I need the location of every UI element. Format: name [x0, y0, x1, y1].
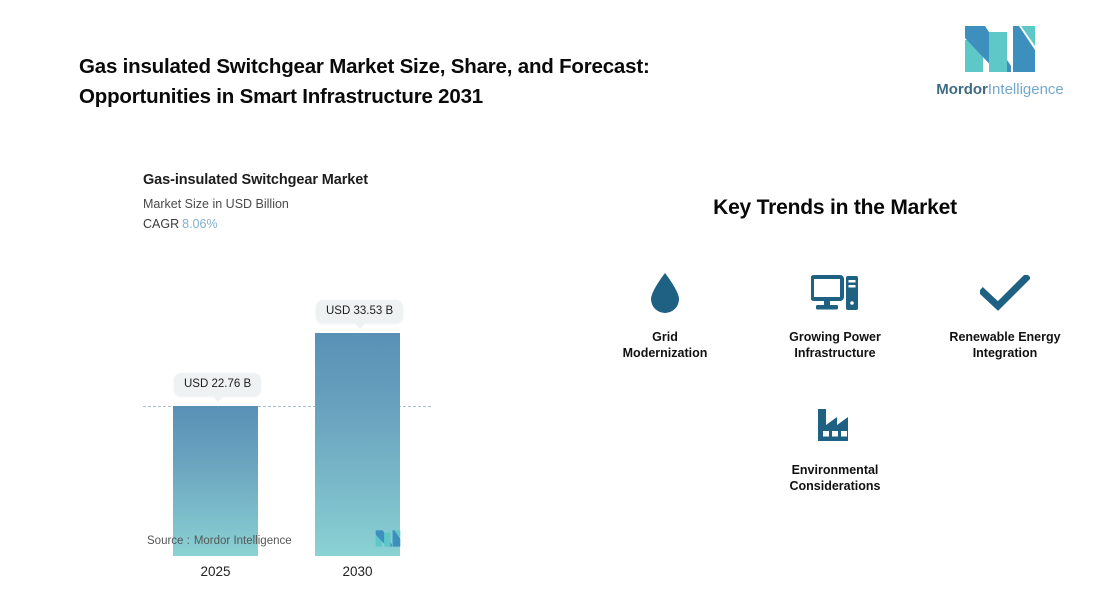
trend-label: Environmental Considerations	[776, 462, 894, 494]
bar-label-2030: USD 33.53 B	[316, 300, 403, 323]
bar-label-2025: USD 22.76 B	[174, 373, 261, 396]
chart-source: Source :Mordor Intelligence	[147, 535, 292, 547]
x-tick-2025: 2025	[173, 564, 258, 579]
key-trends-panel: Key Trends in the Market Grid Modernizat…	[600, 196, 1070, 494]
chart-subtitle: Market Size in USD Billion	[143, 197, 443, 211]
trend-item-renewable-energy-integration[interactable]: Renewable Energy Integration	[946, 270, 1064, 361]
trend-label: Grid Modernization	[606, 329, 724, 361]
brand-wordmark-bold: Mordor	[936, 81, 988, 98]
brand-logo: MordorIntelligence	[936, 26, 1064, 99]
chart-title: Gas-insulated Switchgear Market	[143, 172, 443, 188]
brand-wordmark: MordorIntelligence	[936, 81, 1064, 98]
trend-row-secondary: Environmental Considerations	[600, 403, 1070, 494]
checkmark-icon	[946, 270, 1064, 316]
bar-chart-plot: USD 22.76 B 2025 USD 33.53 B 2030	[143, 228, 443, 503]
trend-row-primary: Grid Modernization Growing Power Infrast…	[600, 270, 1070, 361]
trend-label: Growing Power Infrastructure	[776, 329, 894, 361]
factory-icon	[776, 403, 894, 449]
bar-2025[interactable]	[173, 406, 258, 556]
x-tick-2030: 2030	[315, 564, 400, 579]
brand-wordmark-light: Intelligence	[988, 81, 1064, 98]
trend-label: Renewable Energy Integration	[946, 329, 1064, 361]
page-title: Gas insulated Switchgear Market Size, Sh…	[79, 52, 839, 112]
key-trends-heading: Key Trends in the Market	[600, 196, 1070, 220]
water-droplet-icon	[606, 270, 724, 316]
source-name: Mordor Intelligence	[194, 535, 292, 547]
source-label: Source :	[147, 535, 190, 547]
trend-item-grid-modernization[interactable]: Grid Modernization	[606, 270, 724, 361]
desktop-computer-icon	[776, 270, 894, 316]
trend-item-growing-power-infrastructure[interactable]: Growing Power Infrastructure	[776, 270, 894, 361]
bar-2030[interactable]	[315, 333, 400, 556]
trend-item-environmental-considerations[interactable]: Environmental Considerations	[776, 403, 894, 494]
source-mordor-m-logo-icon	[375, 530, 401, 552]
chart-panel: Gas-insulated Switchgear Market Market S…	[143, 172, 443, 562]
mordor-m-logo-icon	[936, 26, 1064, 77]
